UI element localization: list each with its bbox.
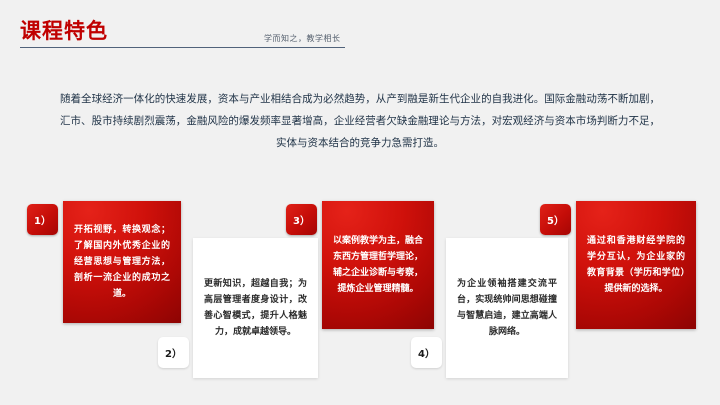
feature-card-2-text: 更新知识，超越自我；为高层管理者度身设计，改善心智模式，提升人格魅力，成就卓越领… [204,276,307,340]
feature-badge-4[interactable]: 4） [411,337,442,368]
intro-paragraph: 随着全球经济一体化的快速发展，资本与产业相结合成为必然趋势，从产到融是新生代企业… [60,88,660,154]
feature-card-4-text: 为企业领袖搭建交流平台，实现统帅间思想碰撞与智慧启迪，建立高端人脉网络。 [457,276,557,340]
feature-card-3-text: 以案例教学为主，融合东西方管理哲学理论，辅之企业诊断与考察，提炼企业管理精髓。 [333,233,423,297]
feature-card-1[interactable]: 开拓视野，转换观念；了解国内外优秀企业的经营思想与管理方法，剖析一流企业的成功之… [63,201,181,323]
feature-badge-1[interactable]: 1） [27,204,58,235]
feature-card-5-text: 通过和香港财经学院的学分互认，为企业家的教育背景（学历和学位）提供新的选择。 [587,233,685,297]
feature-card-1-text: 开拓视野，转换观念；了解国内外优秀企业的经营思想与管理方法，剖析一流企业的成功之… [74,222,170,302]
slide-canvas: 课程特色 学而知之，教学相长 随着全球经济一体化的快速发展，资本与产业相结合成为… [0,0,720,405]
feature-card-3[interactable]: 以案例教学为主，融合东西方管理哲学理论，辅之企业诊断与考察，提炼企业管理精髓。 [322,201,434,329]
page-title: 课程特色 [20,18,108,44]
title-divider [20,47,345,48]
feature-badge-2[interactable]: 2） [158,337,189,368]
feature-card-2[interactable]: 更新知识，超越自我；为高层管理者度身设计，改善心智模式，提升人格魅力，成就卓越领… [193,238,318,378]
slide-subtitle: 学而知之，教学相长 [264,33,341,44]
feature-card-5[interactable]: 通过和香港财经学院的学分互认，为企业家的教育背景（学历和学位）提供新的选择。 [576,201,696,329]
feature-card-4[interactable]: 为企业领袖搭建交流平台，实现统帅间思想碰撞与智慧启迪，建立高端人脉网络。 [446,238,568,378]
feature-badge-5[interactable]: 5） [540,204,571,235]
feature-badge-3[interactable]: 3） [286,204,317,235]
